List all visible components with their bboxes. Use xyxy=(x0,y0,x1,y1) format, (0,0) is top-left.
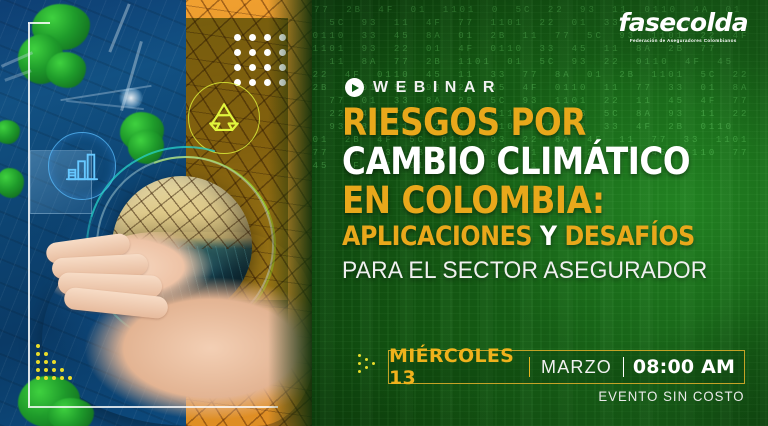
content-panel: fasecolda Federación de Aseguradores Col… xyxy=(312,0,768,426)
title-line-4: APLICACIONES Y DESAFÍOS xyxy=(342,224,705,250)
event-time: 08:00 AM xyxy=(624,351,744,383)
webinar-eyebrow: WEBINAR xyxy=(345,78,502,97)
logo-tagline: Federación de Aseguradores Colombianos xyxy=(618,38,748,43)
webinar-label: WEBINAR xyxy=(373,79,502,97)
fasecolda-logo: fasecolda Federación de Aseguradores Col… xyxy=(618,10,748,43)
event-month: MARZO xyxy=(530,351,622,383)
date-time-box: MIÉRCOLES 13 MARZO 08:00 AM xyxy=(388,350,745,384)
title-line-4-conjunction: Y xyxy=(540,221,557,252)
collage-edge-fade xyxy=(268,0,312,426)
yellow-dot-triangle-decoration xyxy=(36,344,82,388)
photo-collage xyxy=(0,0,312,426)
event-cost-note: EVENTO SIN COSTO xyxy=(599,388,745,404)
title-line-1: RIESGOS POR xyxy=(342,105,705,140)
title-line-4-part-a: APLICACIONES xyxy=(342,221,532,252)
white-corner-frame-tick xyxy=(28,22,50,24)
webinar-promo-banner: 01 1101 22 45 0110 8A 33 1001 77 2B 4F 0… xyxy=(0,0,768,426)
logo-wordmark: fasecolda xyxy=(618,10,748,35)
play-circle-icon xyxy=(345,78,364,97)
title-line-4-part-b: DESAFÍOS xyxy=(564,221,694,252)
event-day: MIÉRCOLES 13 xyxy=(389,351,529,383)
title-line-2: CAMBIO CLIMÁTICO xyxy=(342,144,705,179)
yellow-dot-accent xyxy=(358,354,384,380)
title-line-3: EN COLOMBIA: xyxy=(342,183,705,218)
title-line-5: PARA EL SECTOR ASEGURADOR xyxy=(342,257,733,285)
event-date-bar: MIÉRCOLES 13 MARZO 08:00 AM xyxy=(358,350,745,384)
title-block: RIESGOS POR CAMBIO CLIMÁTICO EN COLOMBIA… xyxy=(342,105,754,285)
